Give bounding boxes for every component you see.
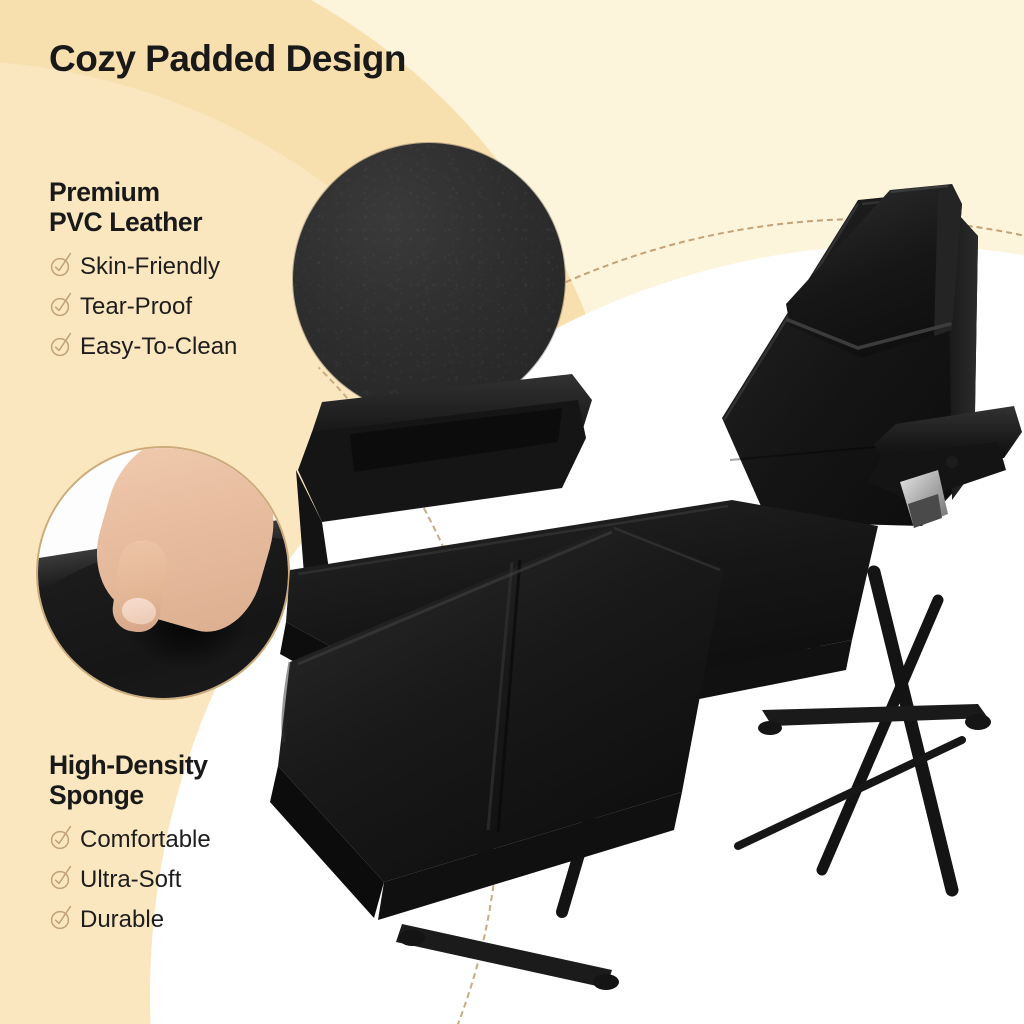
feature-title: Premium PVC Leather — [49, 178, 237, 238]
bullet-label: Skin-Friendly — [80, 253, 220, 281]
list-item: Tear-Proof — [49, 291, 237, 322]
infographic-canvas: Cozy Padded Design Premium PVC Leather S… — [0, 0, 1024, 1024]
list-item: Skin-Friendly — [49, 251, 237, 282]
bullet-label: Tear-Proof — [80, 293, 192, 321]
feature-title: High-Density Sponge — [49, 751, 211, 811]
headrest-pillow — [786, 184, 962, 358]
check-circle-icon — [49, 904, 73, 935]
check-circle-icon — [49, 251, 73, 282]
check-circle-icon — [49, 864, 73, 895]
list-item: Ultra-Soft — [49, 864, 211, 895]
list-item: Easy-To-Clean — [49, 331, 237, 362]
foot-front — [396, 924, 619, 990]
foot-right — [758, 704, 991, 735]
bullet-label: Comfortable — [80, 826, 211, 854]
black-reclining-facial-massage-chair — [262, 170, 1024, 1024]
feature-block-high-density-sponge: High-Density Sponge Comfortable Ultra-So… — [49, 751, 211, 944]
bullet-label: Ultra-Soft — [80, 866, 181, 894]
check-circle-icon — [49, 291, 73, 322]
feature-bullet-list: Skin-Friendly Tear-Proof Easy-To-Clean — [49, 251, 237, 362]
feature-bullet-list: Comfortable Ultra-Soft Durable — [49, 824, 211, 935]
check-circle-icon — [49, 331, 73, 362]
list-item: Comfortable — [49, 824, 211, 855]
page-title: Cozy Padded Design — [49, 38, 406, 80]
hand-pressing-cushion-closeup — [36, 446, 290, 700]
bullet-label: Easy-To-Clean — [80, 333, 237, 361]
list-item: Durable — [49, 904, 211, 935]
check-circle-icon — [49, 824, 73, 855]
bullet-label: Durable — [80, 906, 164, 934]
feature-block-premium-pvc-leather: Premium PVC Leather Skin-Friendly Tear-P… — [49, 178, 237, 371]
